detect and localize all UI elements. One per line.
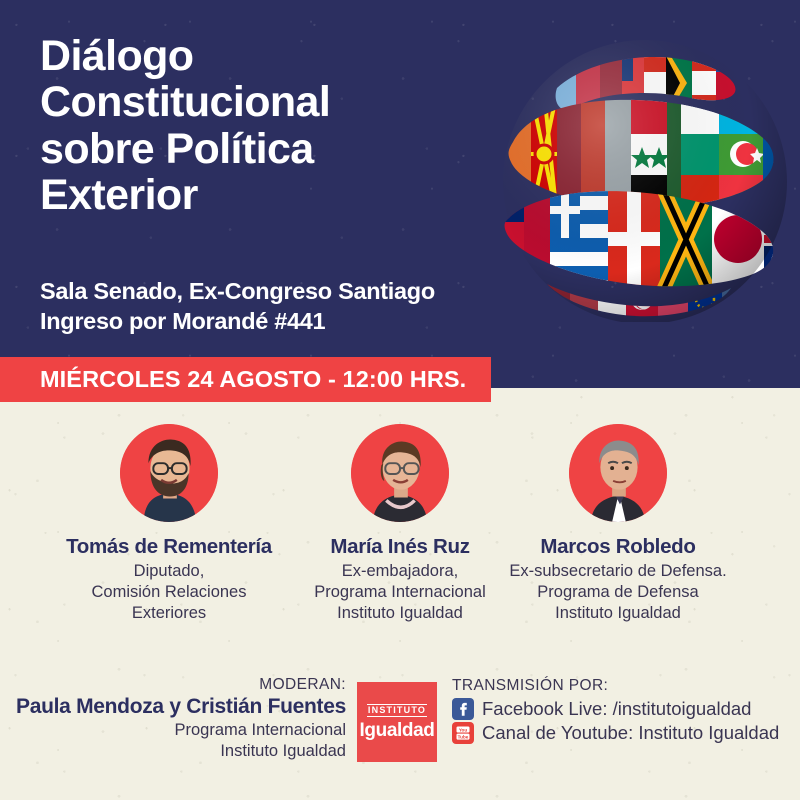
avatar [351, 424, 449, 522]
speaker-card: María Inés Ruz Ex-embajadora, Programa I… [292, 420, 508, 624]
poster-headline: Diálogo Constitucional sobre Política Ex… [40, 33, 490, 219]
speakers-section: Tomás de Rementería Diputado, Comisión R… [0, 420, 800, 660]
transmission-label: TRANSMISIÓN POR: [452, 677, 779, 695]
speaker-role-line: Programa de Defensa [500, 582, 736, 603]
venue-line-2: Ingreso por Morandé #441 [40, 306, 500, 336]
svg-text:You: You [459, 727, 468, 732]
moderators-label: MODERAN: [0, 676, 346, 694]
moderators-org-line: Programa Internacional [0, 720, 346, 741]
speaker-role-line: Instituto Igualdad [500, 603, 736, 624]
logo-bottom-text: Igualdad [360, 721, 435, 740]
transmission-channel-youtube[interactable]: You Tube Canal de Youtube: Instituto Igu… [452, 722, 779, 744]
headline-line-1: Diálogo [40, 33, 490, 79]
world-flags-globe-icon [495, 22, 795, 322]
instituto-igualdad-logo: INSTITUTO Igualdad [357, 682, 437, 762]
svg-text:Tube: Tube [458, 734, 469, 739]
speaker-card: Tomás de Rementería Diputado, Comisión R… [38, 420, 300, 624]
transmission-block: TRANSMISIÓN POR: Facebook Live: /institu… [452, 677, 779, 744]
speaker-name: María Inés Ruz [292, 535, 508, 559]
moderators-names: Paula Mendoza y Cristián Fuentes [0, 695, 346, 719]
header-band: Diálogo Constitucional sobre Política Ex… [0, 0, 800, 388]
transmission-channel-facebook[interactable]: Facebook Live: /institutoigualdad [452, 698, 779, 720]
speaker-role-line: Exteriores [38, 603, 300, 624]
speaker-role-line: Ex-subsecretario de Defensa. [500, 561, 736, 582]
speaker-role: Ex-subsecretario de Defensa. Programa de… [500, 561, 736, 624]
moderators-org: Programa Internacional Instituto Igualda… [0, 720, 346, 762]
moderators-block: MODERAN: Paula Mendoza y Cristián Fuente… [0, 676, 346, 762]
speaker-role-line: Programa Internacional [292, 582, 508, 603]
transmission-channel-text: Facebook Live: /institutoigualdad [482, 698, 751, 720]
headline-line-3: sobre Política [40, 126, 490, 172]
headline-line-4: Exterior [40, 172, 490, 218]
moderators-org-line: Instituto Igualdad [0, 741, 346, 762]
speaker-card: Marcos Robledo Ex-subsecretario de Defen… [500, 420, 736, 624]
speaker-name: Tomás de Rementería [38, 535, 300, 559]
date-banner: MIÉRCOLES 24 AGOSTO - 12:00 HRS. [0, 357, 491, 402]
speaker-name: Marcos Robledo [500, 535, 736, 559]
date-banner-text: MIÉRCOLES 24 AGOSTO - 12:00 HRS. [40, 366, 466, 393]
speaker-role-line: Instituto Igualdad [292, 603, 508, 624]
logo-top-text: INSTITUTO [367, 704, 427, 718]
avatar [120, 424, 218, 522]
speaker-role: Diputado, Comisión Relaciones Exteriores [38, 561, 300, 624]
speaker-role-line: Comisión Relaciones [38, 582, 300, 603]
speaker-role-line: Ex-embajadora, [292, 561, 508, 582]
headline-line-2: Constitucional [40, 79, 490, 125]
speaker-role: Ex-embajadora, Programa Internacional In… [292, 561, 508, 624]
speaker-role-line: Diputado, [38, 561, 300, 582]
transmission-channel-text: Canal de Youtube: Instituto Igualdad [482, 722, 779, 744]
venue-line-1: Sala Senado, Ex-Congreso Santiago [40, 276, 500, 306]
youtube-icon[interactable]: You Tube [452, 722, 474, 744]
event-poster: Diálogo Constitucional sobre Política Ex… [0, 0, 800, 800]
avatar [569, 424, 667, 522]
facebook-icon[interactable] [452, 698, 474, 720]
venue-info: Sala Senado, Ex-Congreso Santiago Ingres… [40, 276, 500, 336]
